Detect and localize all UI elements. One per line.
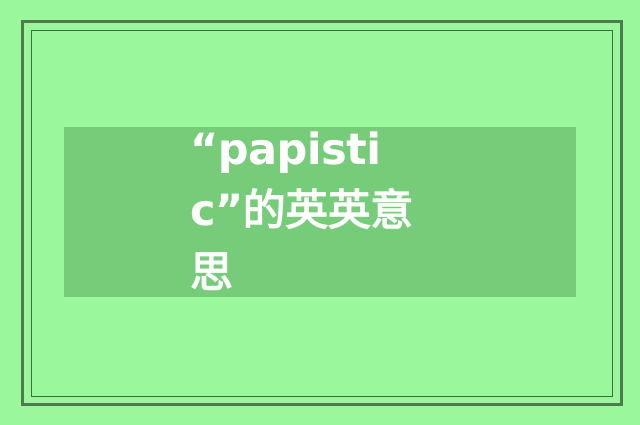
- banner-canvas: “papistic”的英英意思: [0, 0, 640, 425]
- page-title: “papistic”的英英意思: [190, 120, 450, 303]
- headline-panel: “papistic”的英英意思: [64, 127, 576, 297]
